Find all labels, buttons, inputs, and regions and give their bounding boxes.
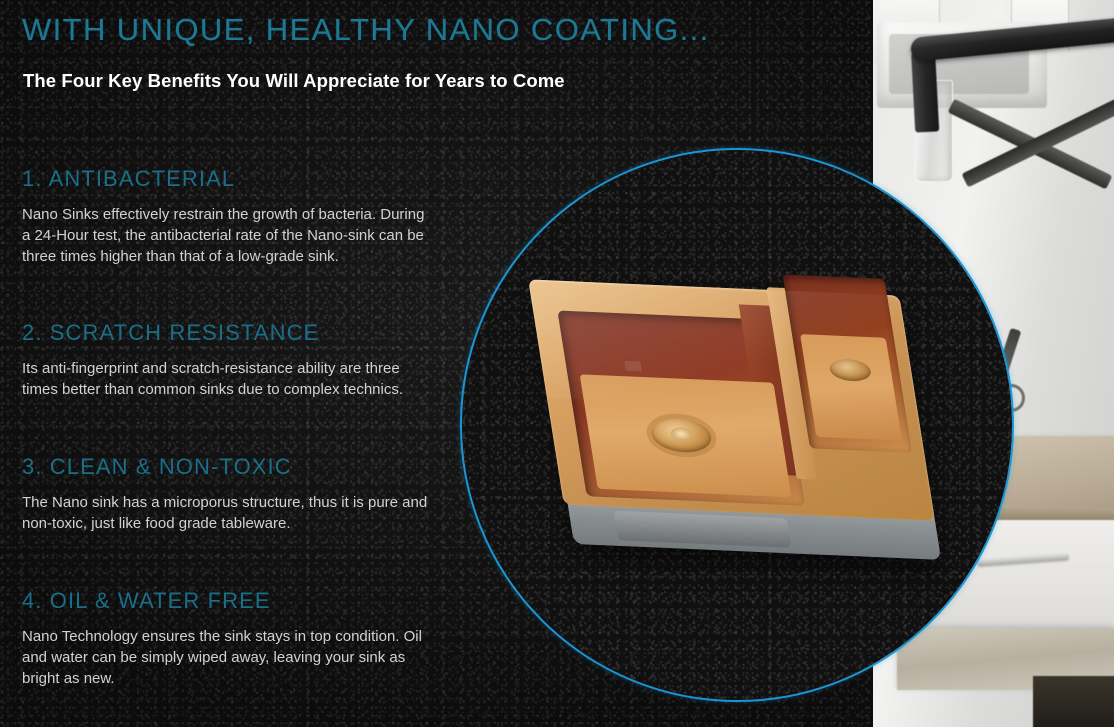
benefit-body: Nano Sinks effectively restrain the grow… — [22, 204, 432, 267]
text-content-column: WITH UNIQUE, HEALTHY NANO COATING... The… — [0, 0, 470, 727]
page-subtitle: The Four Key Benefits You Will Appreciat… — [23, 70, 565, 92]
benefit-heading: 2. SCRATCH RESISTANCE — [22, 320, 442, 346]
benefit-heading: 1. ANTIBACTERIAL — [22, 166, 442, 192]
circle-highlight-ring — [460, 148, 1014, 702]
benefit-heading: 3. CLEAN & NON-TOXIC — [22, 454, 442, 480]
benefit-item-scratch-resistance: 2. SCRATCH RESISTANCE Its anti-fingerpri… — [22, 320, 442, 400]
benefit-heading: 4. OIL & WATER FREE — [22, 588, 442, 614]
benefit-body: Nano Technology ensures the sink stays i… — [22, 626, 432, 689]
benefit-body: The Nano sink has a microporus structure… — [22, 492, 432, 534]
benefit-body: Its anti-fingerprint and scratch-resista… — [22, 358, 432, 400]
infographic-page: WITH UNIQUE, HEALTHY NANO COATING... The… — [0, 0, 1114, 727]
benefit-item-clean-non-toxic: 3. CLEAN & NON-TOXIC The Nano sink has a… — [22, 454, 442, 534]
page-title: WITH UNIQUE, HEALTHY NANO COATING... — [22, 12, 710, 48]
benefit-item-antibacterial: 1. ANTIBACTERIAL Nano Sinks effectively … — [22, 166, 442, 267]
benefit-item-oil-water-free: 4. OIL & WATER FREE Nano Technology ensu… — [22, 588, 442, 689]
